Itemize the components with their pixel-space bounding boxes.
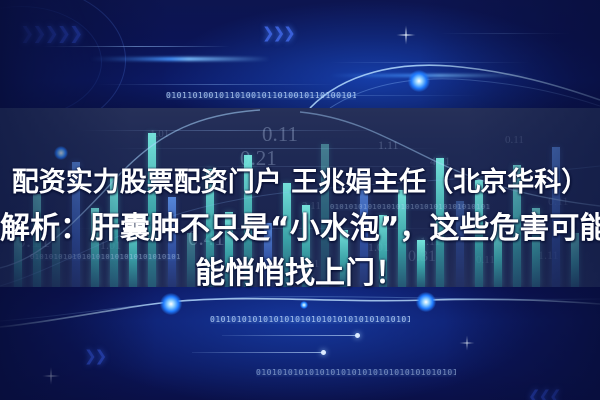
- background-bottom-band: 0101010101010101010101010101010101010101…: [0, 287, 600, 400]
- chevron-left-icon-group-bottom-right: ❮❮❮: [528, 387, 560, 400]
- binary-code-strip: 0101010101010101010101010101010101010101…: [210, 316, 410, 324]
- background-top-band: ❯❯❯❯❯ ❯❯❯ 010110100101101001011010010110…: [0, 0, 600, 108]
- glow-node-icon: [300, 301, 308, 309]
- binary-code-strip: 0101101001011010010110100101101001011010…: [166, 92, 356, 100]
- glow-node-icon: [408, 70, 430, 92]
- glow-node-icon: [416, 292, 436, 312]
- glow-node-icon: [54, 146, 68, 160]
- connector-line: [222, 335, 358, 336]
- background-chart-band: 0.11 0.21 1.11 0.11 1.01 4.11 0.11 1.01 …: [0, 108, 600, 287]
- connector-line: [192, 352, 324, 353]
- banner-image: ❯❯❯❯❯ ❯❯❯ 010110100101101001011010010110…: [0, 0, 600, 400]
- binary-code-strip: 0101010101010101010101010101010101010101…: [330, 204, 490, 211]
- binary-code-strip: 0101010101010101010101010101010101010101…: [256, 369, 456, 377]
- chevron-right-icon-group-bottom-left: ❯❯: [84, 347, 105, 365]
- sparkle-icon: [38, 363, 64, 389]
- glow-node-icon: [160, 293, 182, 315]
- sparkle-icon: [456, 332, 478, 354]
- binary-code-strip: 0101010101010101010101010101010101010101…: [30, 254, 180, 261]
- sparkle-icon: [392, 21, 420, 49]
